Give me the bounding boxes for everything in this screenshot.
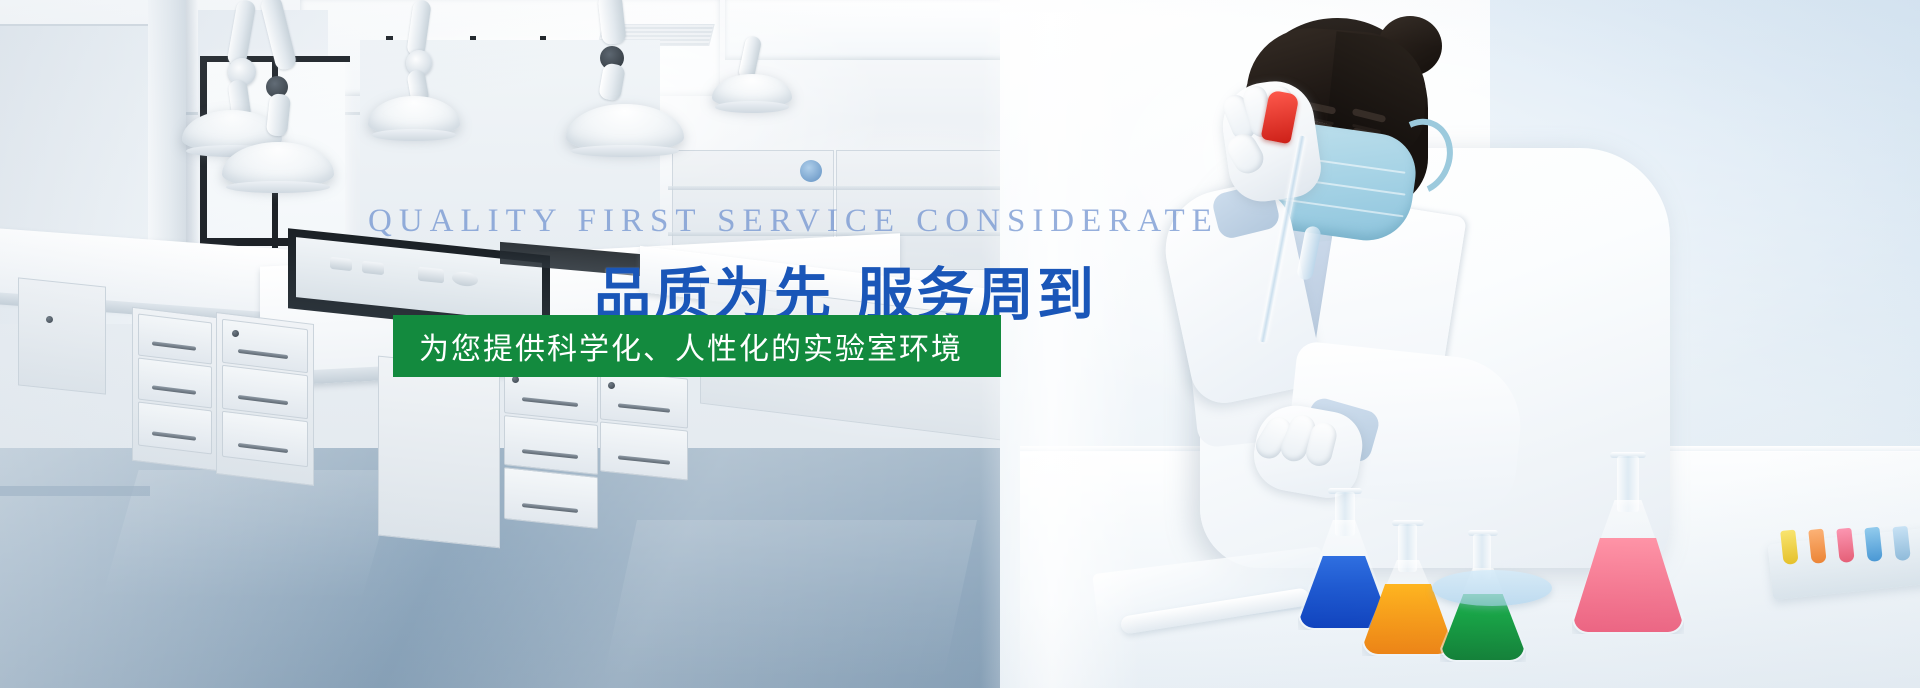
shelf-line-upper <box>668 186 1012 190</box>
cabinet-bank-c <box>378 356 500 549</box>
drawer-a1 <box>138 313 212 364</box>
subtitle-text: 为您提供科学化、人性化的实验室环境 <box>393 324 963 368</box>
drawer-d2 <box>600 421 688 480</box>
floor-reflection-patch-b <box>603 520 977 680</box>
drawer-a2 <box>138 357 212 408</box>
cabinet-left-tall <box>18 277 106 394</box>
subtitle-green-bar: 为您提供科学化、人性化的实验室环境 <box>393 315 1001 377</box>
cabinet-lock-icon-c <box>512 376 519 383</box>
test-tube-blue <box>1864 527 1882 562</box>
cabinet-lock-icon-a <box>46 316 53 323</box>
test-tube-clear <box>1892 526 1910 561</box>
drawer-d1 <box>600 369 688 428</box>
cabinet-lock-icon-b <box>232 330 239 337</box>
bench-tap-c <box>418 267 444 284</box>
drawer-c3 <box>504 467 598 529</box>
cabinet-lock-icon-d <box>608 382 615 389</box>
english-tagline: QUALITY FIRST SERVICE CONSIDERATE <box>368 203 1219 240</box>
wall-trim-line <box>0 24 152 26</box>
safety-sign-icon <box>800 160 822 182</box>
floor-skirting <box>0 486 150 496</box>
drawer-a3 <box>138 401 212 454</box>
drawer-c2 <box>504 415 598 475</box>
bench-tap-b <box>362 261 384 275</box>
promotional-banner: QUALITY FIRST SERVICE CONSIDERATE 品质为先 服… <box>0 0 1920 688</box>
bench-tap-a <box>330 257 352 271</box>
petri-dish <box>1432 570 1552 606</box>
